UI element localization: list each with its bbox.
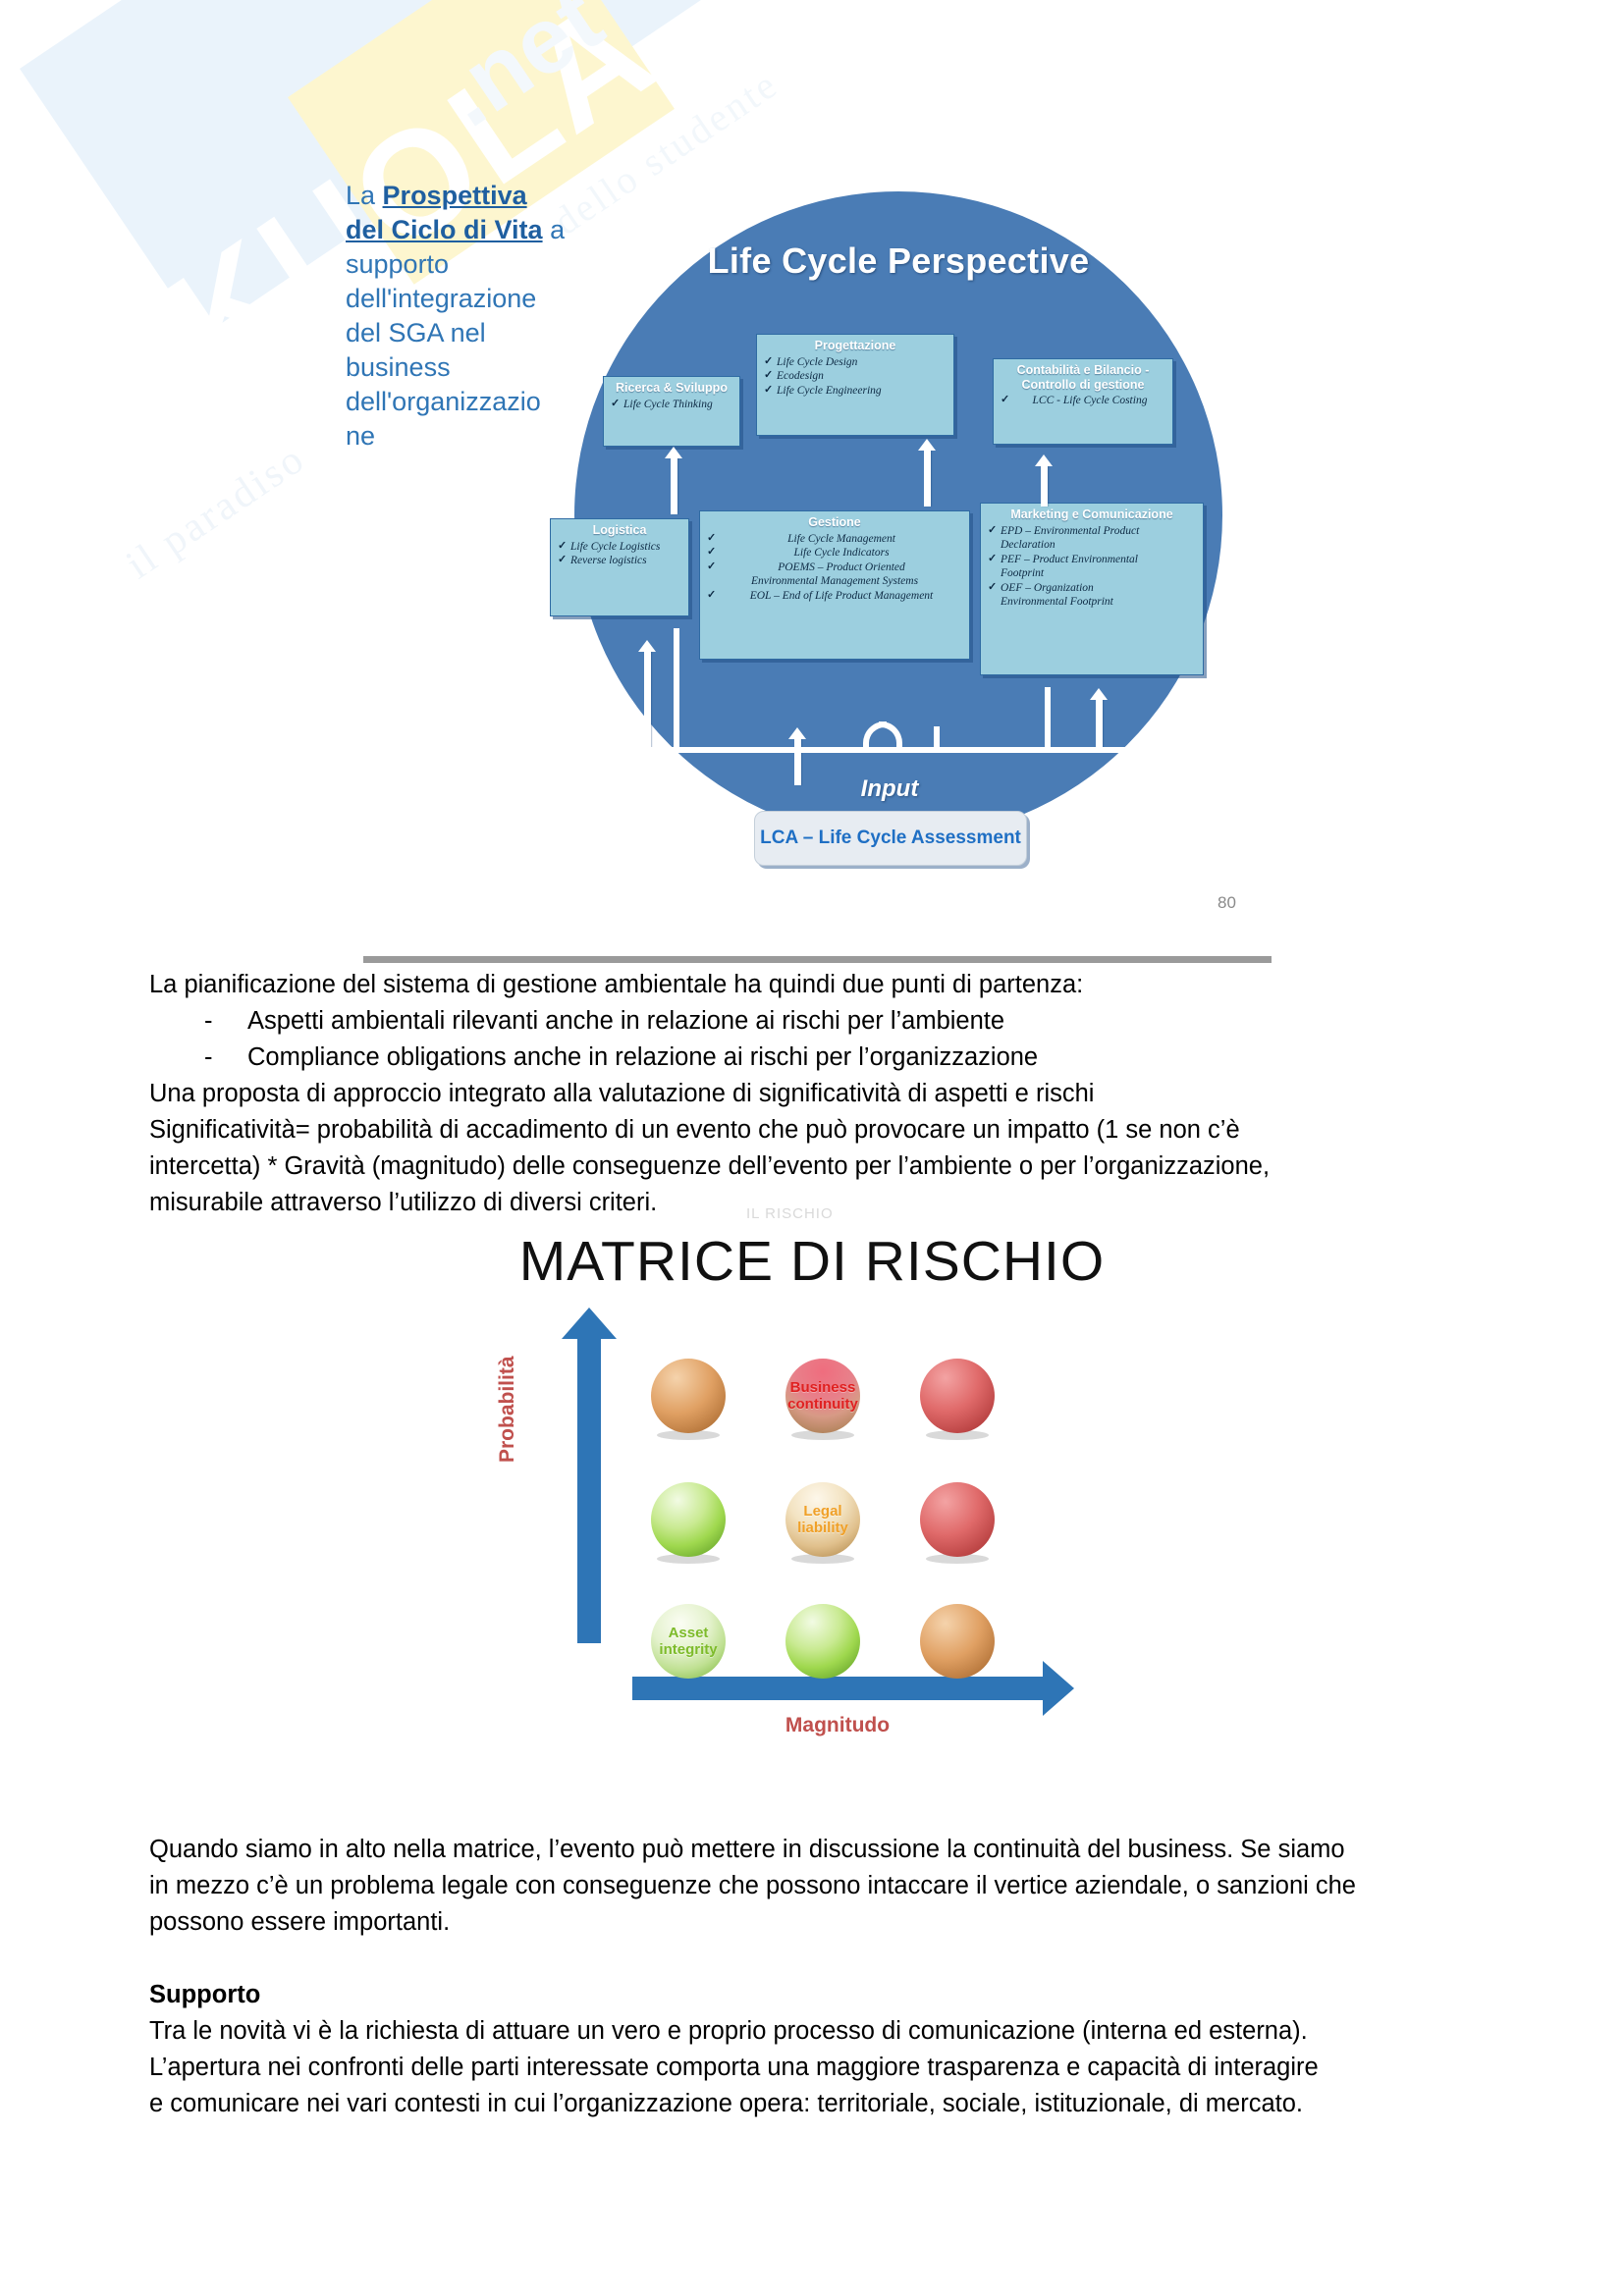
spacer [149,1941,1485,1977]
matrix-ball-label: Business continuity [785,1379,860,1413]
box-item: EOL – End of Life Product Management [706,589,963,604]
matrix-ball-label: Asset integrity [651,1625,726,1658]
body-line: e comunicare nei vari contesti in cui l’… [149,2086,1485,2122]
box-item: LCC - Life Cycle Costing [1000,394,1166,408]
box-item: POEMS – Product Oriented [706,561,963,575]
box-item-list: EPD – Environmental Product Declaration … [987,524,1197,610]
slide-title-lead: La [346,181,383,210]
box-item: Reverse logistics [557,554,682,568]
slide-side-title: La Prospettiva del Ciclo di Vita a suppo… [346,179,571,454]
box-item-list: Life Cycle Thinking [610,398,733,412]
connector-line [1045,687,1051,750]
arrow-up-icon [644,651,651,749]
box-progettazione: Progettazione Life Cycle Design Ecodesig… [756,334,954,436]
slide-title-rest: a supporto dell'integrazione del SGA nel… [346,215,565,451]
box-item: Ecodesign [763,369,947,384]
matrix-ball-legal-liability: Legal liability [785,1482,860,1557]
box-item: Life Cycle Engineering [763,384,947,399]
body-line: Una proposta di approccio integrato alla… [149,1076,1485,1112]
box-item: OEF – Organization [987,581,1197,596]
matrix-ball [920,1482,995,1557]
probability-axis-arrow-icon [577,1337,601,1643]
box-item: Life Cycle Design [763,355,947,370]
list-item-text: Aspetti ambientali rilevanti anche in re… [247,1003,1004,1040]
list-item: - Compliance obligations anche in relazi… [204,1040,1485,1076]
matrix-ball-label: Legal liability [785,1503,860,1536]
matrix-ball-asset-integrity: Asset integrity [651,1604,726,1679]
arrow-up-icon [924,450,931,507]
box-item-list: Life Cycle Management Life Cycle Indicat… [706,532,963,604]
matrix-ball-business-continuity: Business continuity [785,1359,860,1433]
life-cycle-perspective-slide: La Prospettiva del Ciclo di Vita a suppo… [0,0,1624,962]
matrix-ball [785,1604,860,1679]
body-text-block-2: Quando siamo in alto nella matrice, l’ev… [149,1832,1485,2122]
box-marketing-comunicazione: Marketing e Comunicazione EPD – Environm… [980,503,1204,675]
box-item-continuation: Footprint [987,566,1197,581]
box-item-continuation: Environmental Footprint [987,595,1197,610]
box-header: Contabilità e Bilancio - Controllo di ge… [1000,363,1166,392]
box-header: Gestione [706,515,963,530]
box-item-list: LCC - Life Cycle Costing [1000,394,1166,408]
body-line: Significatività= probabilità di accadime… [149,1112,1485,1148]
dash-marker: - [204,1040,247,1076]
arrow-up-icon [1041,465,1048,507]
box-gestione: Gestione Life Cycle Management Life Cycl… [699,510,970,660]
box-item: Life Cycle Indicators [706,546,963,561]
dash-marker: - [204,1003,247,1040]
risk-matrix-figure: IL RISCHIO MATRICE DI RISCHIO Probabilit… [0,1168,1624,1855]
input-label: Input [597,775,1182,803]
box-item: Life Cycle Thinking [610,398,733,412]
arrow-up-icon [1096,699,1103,750]
box-header: Ricerca & Sviluppo [610,381,733,396]
figure-title: MATRICE DI RISCHIO [0,1229,1624,1294]
matrix-ball [651,1359,726,1433]
box-header: Marketing e Comunicazione [987,507,1197,522]
body-line: Quando siamo in alto nella matrice, l’ev… [149,1832,1485,1868]
matrix-ball [920,1359,995,1433]
magnitude-axis-arrow-icon [632,1677,1043,1700]
box-logistica: Logistica Life Cycle Logistics Reverse l… [550,518,689,616]
body-line: in mezzo c’è un problema legale con cons… [149,1868,1485,1904]
box-contabilita-bilancio: Contabilità e Bilancio - Controllo di ge… [993,358,1173,445]
body-line: L’apertura nei confronti delle parti int… [149,2050,1485,2086]
section-heading-supporto: Supporto [149,1977,1485,2013]
box-item-list: Life Cycle Logistics Reverse logistics [557,540,682,568]
box-item: Life Cycle Logistics [557,540,682,555]
box-header: Progettazione [763,339,947,353]
box-item-list: Life Cycle Design Ecodesign Life Cycle E… [763,355,947,399]
box-header: Logistica [557,523,682,538]
matrix-ball [920,1604,995,1679]
box-item-continuation: Environmental Management Systems [706,574,963,589]
x-axis-label: Magnitudo [632,1714,1043,1737]
list-item-text: Compliance obligations anche in relazion… [247,1040,1038,1076]
slide-page-number: 80 [1218,893,1236,913]
list-item: - Aspetti ambientali rilevanti anche in … [204,1003,1485,1040]
figure-faint-top-text: IL RISCHIO [746,1205,834,1222]
circle-title: Life Cycle Perspective [574,240,1222,282]
matrix-ball [651,1482,726,1557]
body-line: Tra le novità vi è la richiesta di attua… [149,2013,1485,2050]
y-axis-label: Probabilità [496,1356,519,1463]
box-item: Life Cycle Management [706,532,963,547]
connector-line [674,628,679,750]
arrow-up-icon [671,457,677,514]
box-item-continuation: Declaration [987,538,1197,553]
lca-box: LCA – Life Cycle Assessment [754,811,1027,866]
horizontal-rule [363,956,1272,963]
body-line: possono essere importanti. [149,1904,1485,1941]
box-ricerca-sviluppo: Ricerca & Sviluppo Life Cycle Thinking [603,376,740,447]
body-intro: La pianificazione del sistema di gestion… [149,967,1485,1003]
box-item: PEF – Product Environmental [987,553,1197,567]
box-item: EPD – Environmental Product [987,524,1197,539]
